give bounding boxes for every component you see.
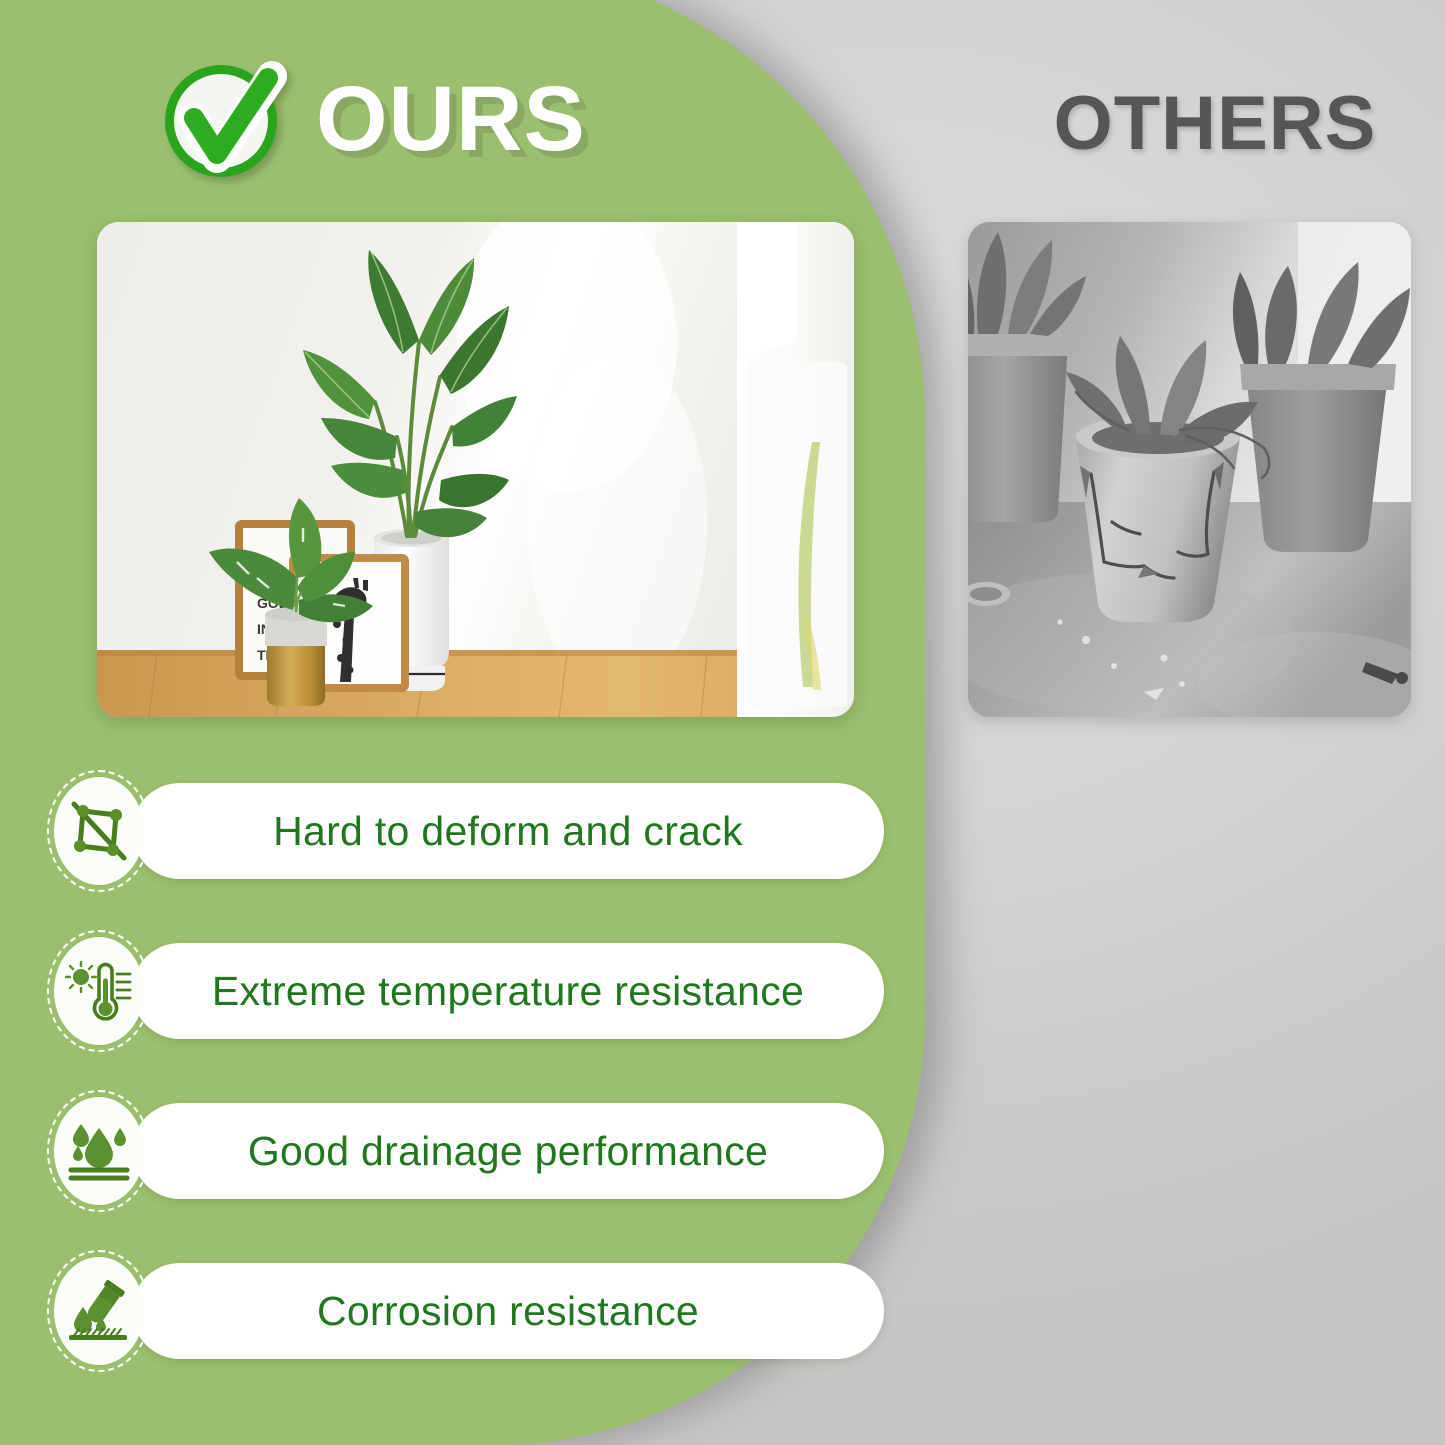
feature-row: Hard to deform and crack [44,770,884,892]
feature-row: Good drainage performance [44,1090,884,1212]
others-title: OTHERS [1035,86,1395,162]
feature-pill: Good drainage performance [132,1103,884,1199]
comparison-poster: OURS OTHERS [0,0,1445,1445]
others-header: OTHERS [1035,86,1395,162]
sun-thermometer-icon [44,930,154,1052]
feature-row: Corrosion resistance [44,1250,884,1372]
ours-feature-list: Hard to deform and crack [44,770,884,1372]
no-deform-frame-icon [44,770,154,892]
check-circle-icon [160,54,290,184]
feature-label: Good drainage performance [248,1128,768,1175]
feature-pill: Extreme temperature resistance [132,943,884,1039]
test-tube-corrosion-icon [44,1250,154,1372]
feature-label: Extreme temperature resistance [212,968,804,1015]
feature-pill: Corrosion resistance [132,1263,884,1359]
ours-title: OURS [316,73,586,165]
feature-label: Hard to deform and crack [273,808,743,855]
feature-row: Extreme temperature resistance [44,930,884,1052]
ours-header: OURS [160,44,586,194]
others-product-photo [968,222,1411,717]
water-drops-drainage-icon [44,1090,154,1212]
feature-label: Corrosion resistance [317,1288,699,1335]
feature-pill: Hard to deform and crack [132,783,884,879]
ours-product-photo: EVERYTHING GOES WELL IN TIME [97,222,854,717]
